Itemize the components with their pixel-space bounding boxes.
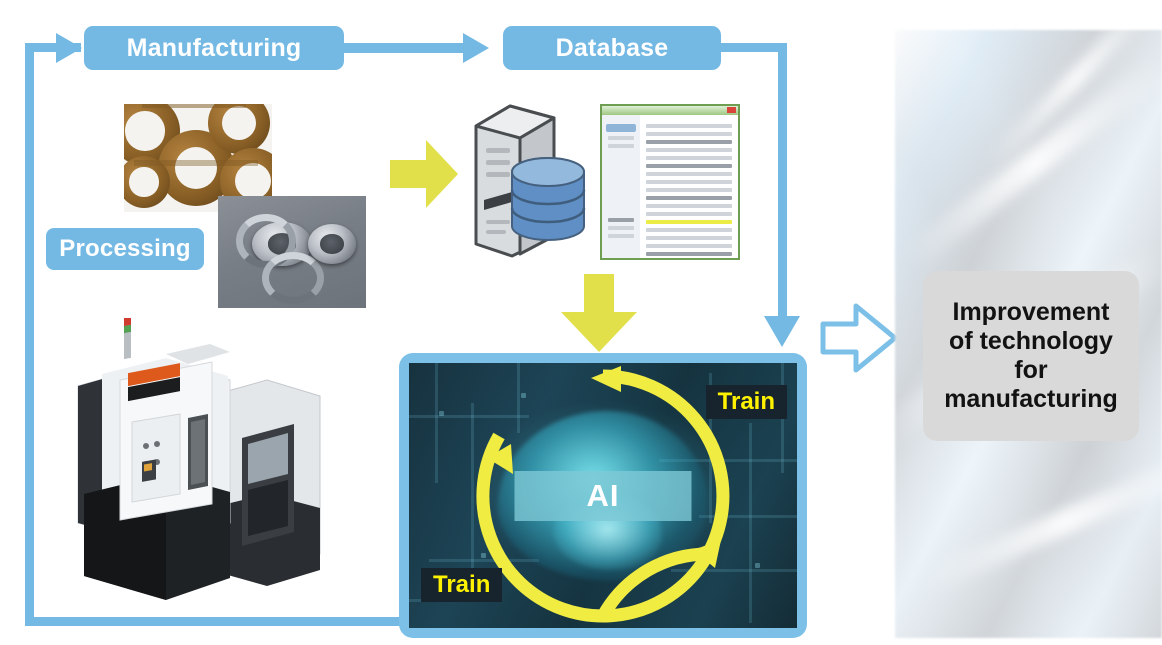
server-database-icon — [466, 96, 586, 262]
stage-label-database: Database — [556, 34, 669, 63]
outcome-callout-box: Improvement of technology for manufactur… — [923, 271, 1139, 441]
connector-feedback-bottom — [25, 617, 405, 626]
yellow-down-arrow-icon — [557, 272, 641, 354]
train-label-top-text: Train — [718, 388, 775, 415]
stage-label-manufacturing: Manufacturing — [127, 34, 302, 63]
arrowhead-manufacturing-to-database-icon — [463, 33, 489, 63]
train-label-bottom: Train — [421, 568, 502, 602]
stage-label-processing: Processing — [59, 235, 190, 263]
connector-manufacturing-to-database — [344, 43, 464, 53]
document-titlebar — [602, 106, 738, 115]
data-report-document-screenshot — [600, 104, 740, 260]
stage-box-manufacturing[interactable]: Manufacturing — [84, 26, 344, 70]
ball-bearings-photo — [218, 196, 366, 308]
arrowhead-feedback-to-manufacturing-icon — [56, 33, 82, 63]
outcome-line-1: Improvement — [944, 298, 1118, 327]
hollow-blue-right-arrow-icon — [818, 300, 900, 376]
stage-box-processing[interactable]: Processing — [46, 228, 204, 270]
outcome-line-3: for — [944, 356, 1118, 385]
outcome-line-4: manufacturing — [944, 385, 1118, 414]
outcome-text: Improvement of technology for manufactur… — [944, 298, 1118, 415]
arrowhead-database-to-ai-icon — [764, 316, 800, 347]
yellow-right-arrow-icon — [388, 136, 460, 212]
ai-label-text: AI — [587, 478, 620, 513]
ai-label-badge: AI — [515, 471, 692, 521]
outcome-line-2: of technology — [944, 327, 1118, 356]
train-label-top: Train — [706, 385, 787, 419]
connector-feedback-left — [25, 43, 34, 623]
stage-box-database[interactable]: Database — [503, 26, 721, 70]
ai-circuit-board-background: AI Train Train — [409, 363, 797, 628]
ai-training-panel[interactable]: AI Train Train — [399, 353, 807, 638]
cnc-machining-center-photo — [62, 318, 362, 610]
connector-database-down-to-ai — [778, 43, 787, 319]
cnc-machine-illustration-icon — [62, 318, 362, 610]
diagram-canvas: Manufacturing Database Processing — [0, 0, 1162, 645]
train-label-bottom-text: Train — [433, 571, 490, 598]
